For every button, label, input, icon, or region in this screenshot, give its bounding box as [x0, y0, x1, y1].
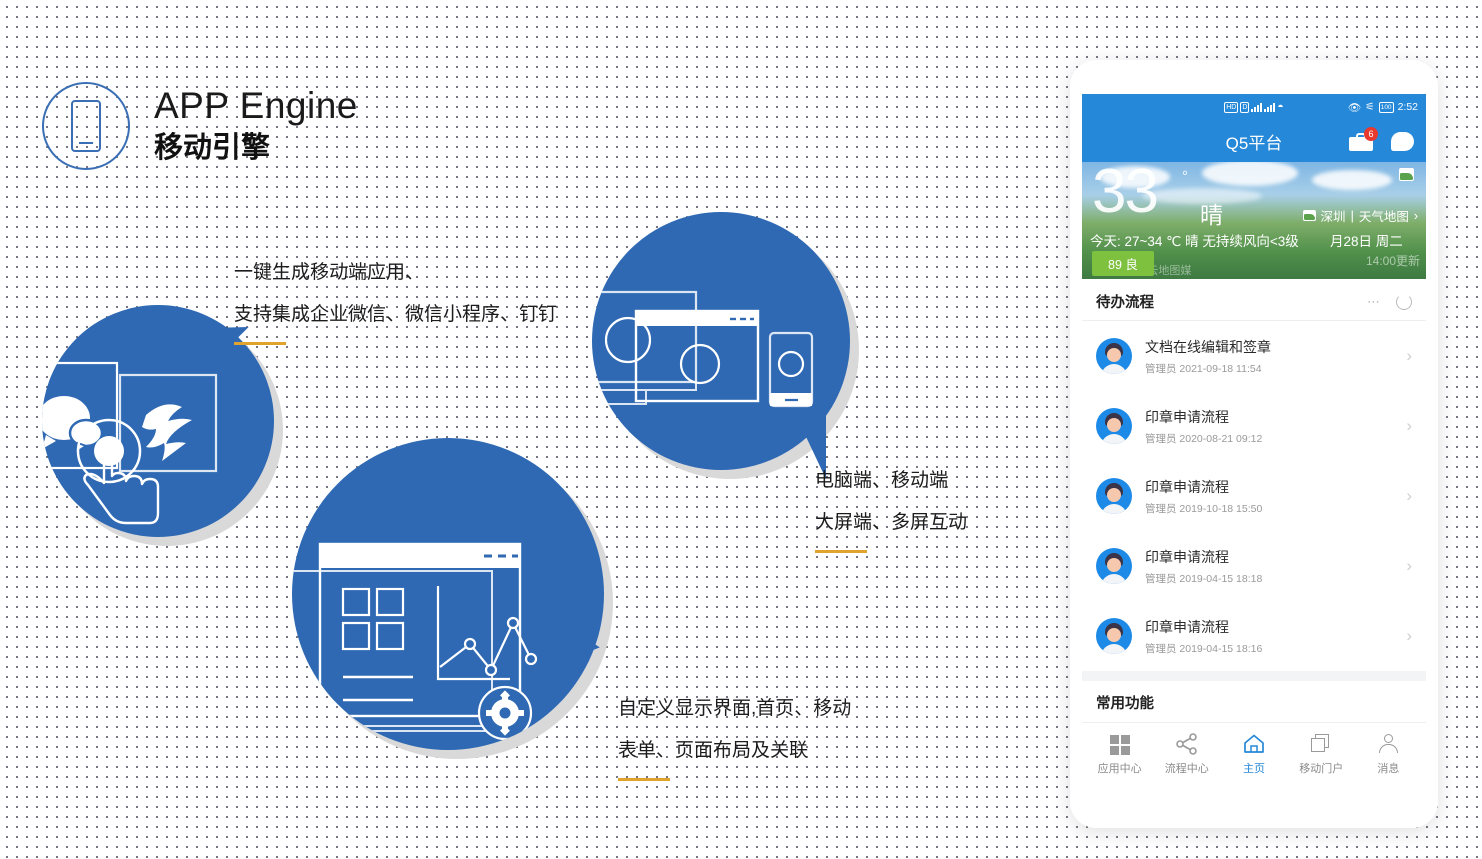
list-item[interactable]: 文档在线编辑和签章 管理员 2021-09-18 11:54 › — [1082, 321, 1426, 391]
list-item-title: 印章申请流程 — [1145, 407, 1406, 427]
annotation-1-underline — [234, 342, 286, 345]
weather-today-line: 今天: 27~34 ℃ 晴 无持续风向<3级 — [1090, 230, 1299, 250]
list-item[interactable]: 印章申请流程 管理员 2019-04-15 18:18 › — [1082, 531, 1426, 601]
annotation-2-line-2: 大屏端、多屏互动 — [815, 502, 967, 544]
list-item[interactable]: 印章申请流程 管理员 2019-10-18 15:50 › — [1082, 461, 1426, 531]
avatar — [1096, 338, 1132, 374]
annotation-3-line-1: 自定义显示界面,首页、移动 — [618, 688, 851, 730]
bluetooth-icon: ⚟ — [1365, 101, 1374, 113]
status-bar-left: HD D ◓ — [1224, 101, 1284, 113]
annotation-3-underline — [618, 778, 670, 781]
weather-image-icon — [1399, 168, 1414, 181]
annotation-2-underline — [815, 550, 867, 553]
air-quality-badge: 89 良 — [1092, 251, 1154, 276]
nav-item-mobile-portal[interactable]: 移动门户 — [1288, 733, 1355, 776]
weather-update-time: 14:00更新 — [1366, 252, 1420, 269]
weather-date: 月28日 周二 — [1330, 230, 1403, 250]
weather-city-link[interactable]: 深圳 | 天气地图 › — [1303, 206, 1418, 225]
annotation-1-line-2: 支持集成企业微信、微信小程序、钉钉 — [234, 294, 557, 336]
chevron-right-icon: › — [1406, 486, 1412, 506]
battery-icon: 100 — [1379, 102, 1394, 113]
avatar — [1096, 618, 1132, 654]
status-bar-right: 👁 ⚟ 100 2:52 — [1348, 101, 1418, 114]
multi-device-circle — [592, 212, 850, 470]
list-item-meta: 管理员 2019-04-15 18:16 — [1145, 641, 1406, 656]
todo-list: 文档在线编辑和签章 管理员 2021-09-18 11:54 › 印章申请流程 … — [1082, 321, 1426, 671]
list-item-title: 文档在线编辑和签章 — [1145, 337, 1406, 357]
nav-item-process-center[interactable]: 流程中心 — [1153, 733, 1220, 776]
refresh-icon[interactable] — [1396, 294, 1412, 310]
weather-condition: 晴 — [1200, 196, 1223, 230]
chat-icon[interactable] — [1391, 132, 1414, 151]
list-item-meta: 管理员 2021-09-18 11:54 — [1145, 361, 1406, 376]
annotation-1-line-1: 一键生成移动端应用、 — [234, 252, 557, 294]
annotation-3-line-2: 表单、页面布局及关联 — [618, 730, 851, 772]
page-title-cn: 移动引擎 — [154, 130, 358, 166]
chevron-right-icon: › — [1406, 556, 1412, 576]
nav-label: 应用中心 — [1098, 760, 1142, 776]
todo-section-header: 待办流程 ⋯ — [1082, 279, 1426, 321]
list-item[interactable]: 印章申请流程 管理员 2019-04-15 18:16 › — [1082, 601, 1426, 671]
bottom-navigation: 应用中心 流程中心 主页 移动门户 消息 — [1082, 723, 1426, 784]
dashboard-settings-circle — [292, 438, 604, 750]
mobile-phone-icon — [42, 82, 130, 170]
weather-divider: | — [1351, 209, 1354, 223]
signal-icon-1 — [1251, 103, 1262, 112]
chevron-right-icon: › — [1406, 346, 1412, 366]
annotation-2-line-1: 电脑端、移动端 — [815, 460, 967, 502]
list-item-meta: 管理员 2019-04-15 18:18 — [1145, 571, 1406, 586]
weather-map-label: 天气地图 — [1359, 206, 1409, 225]
annotation-3: 自定义显示界面,首页、移动 表单、页面布局及关联 — [618, 688, 851, 781]
avatar — [1096, 408, 1132, 444]
phone-mockup: HD D ◓ 👁 ⚟ 100 2:52 Q5平台 6 — [1070, 60, 1438, 828]
toolbox-icon[interactable]: 6 — [1349, 131, 1373, 151]
weather-temperature: 33 — [1092, 162, 1157, 227]
share-icon — [1176, 733, 1198, 755]
weather-degree-symbol: ° — [1182, 168, 1188, 185]
aqi-level: 良 — [1125, 258, 1138, 272]
nav-label: 流程中心 — [1165, 760, 1209, 776]
location-image-icon — [1303, 210, 1316, 221]
app-bar: Q5平台 6 — [1082, 120, 1426, 162]
eye-icon: 👁 — [1348, 101, 1361, 114]
chevron-right-icon: › — [1414, 209, 1418, 223]
common-functions-title: 常用功能 — [1082, 681, 1426, 723]
person-icon — [1377, 733, 1399, 755]
list-item-meta: 管理员 2020-08-21 09:12 — [1145, 431, 1406, 446]
chevron-right-icon: › — [1406, 416, 1412, 436]
aqi-value: 89 — [1108, 258, 1122, 272]
annotation-2: 电脑端、移动端 大屏端、多屏互动 — [815, 460, 967, 553]
list-item-title: 印章申请流程 — [1145, 477, 1406, 497]
ellipsis-icon[interactable]: ⋯ — [1367, 294, 1382, 310]
list-item-title: 印章申请流程 — [1145, 547, 1406, 567]
nav-label: 消息 — [1377, 760, 1399, 776]
nav-label: 主页 — [1243, 760, 1265, 776]
home-icon — [1243, 733, 1265, 755]
app-bar-actions: 6 — [1349, 131, 1414, 151]
avatar — [1096, 548, 1132, 584]
avatar — [1096, 478, 1132, 514]
signal-icon-2 — [1264, 103, 1275, 112]
annotation-1: 一键生成移动端应用、 支持集成企业微信、微信小程序、钉钉 — [234, 252, 557, 345]
nav-item-messages[interactable]: 消息 — [1355, 733, 1422, 776]
wifi-icon: ◓ — [1277, 101, 1283, 113]
list-item[interactable]: 印章申请流程 管理员 2020-08-21 09:12 › — [1082, 391, 1426, 461]
data-icon: D — [1240, 102, 1249, 113]
copy-icon — [1310, 733, 1332, 755]
toolbox-badge: 6 — [1364, 127, 1378, 141]
nav-item-app-center[interactable]: 应用中心 — [1086, 733, 1153, 776]
section-divider — [1082, 671, 1426, 681]
nav-item-home[interactable]: 主页 — [1220, 733, 1287, 776]
page-title-block: APP Engine 移动引擎 — [42, 82, 358, 170]
weather-widget[interactable]: 33 ° 晴 深圳 | 天气地图 › 今天: 27~34 ℃ 晴 无持续风向<3… — [1082, 162, 1426, 279]
nav-label: 移动门户 — [1299, 760, 1343, 776]
todo-section-title: 待办流程 — [1096, 291, 1367, 312]
grid-icon — [1109, 733, 1131, 755]
list-item-title: 印章申请流程 — [1145, 617, 1406, 637]
list-item-meta: 管理员 2019-10-18 15:50 — [1145, 501, 1406, 516]
chevron-right-icon: › — [1406, 626, 1412, 646]
page-title-en: APP Engine — [154, 86, 358, 127]
status-bar: HD D ◓ 👁 ⚟ 100 2:52 — [1082, 94, 1426, 120]
hd-icon: HD — [1224, 102, 1238, 113]
status-bar-time: 2:52 — [1398, 101, 1418, 113]
phone-screen: HD D ◓ 👁 ⚟ 100 2:52 Q5平台 6 — [1082, 94, 1426, 794]
app-title: Q5平台 — [1226, 129, 1283, 154]
weather-city-name: 深圳 — [1321, 206, 1346, 225]
